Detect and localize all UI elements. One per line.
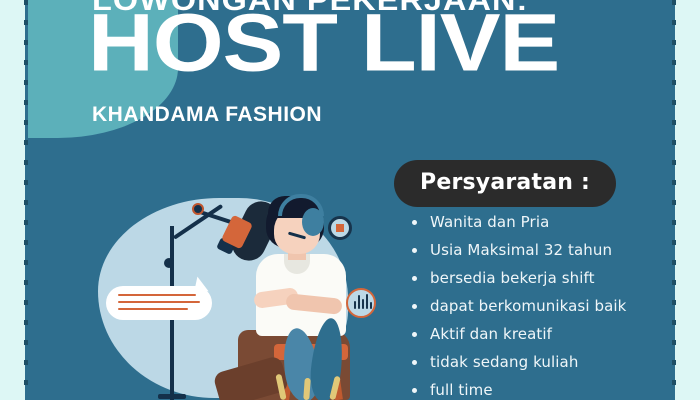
list-item: tidak sedang kuliah [408,353,626,371]
poster-subtitle: KHANDAMA FASHION [92,103,322,127]
mic-arm-joint-upper [192,203,204,215]
bubble-line [118,294,196,296]
waveform-bar [370,302,372,309]
poster-title: HOST LIVE [88,2,559,84]
headphone-earcup [302,208,324,236]
list-item: Wanita dan Pria [408,213,626,231]
mic-stand-foot [158,394,186,399]
job-vacancy-poster: LOWONGAN PEKERJAAN: HOST LIVE KHANDAMA F… [0,0,700,400]
audio-waveform-icon [346,288,376,318]
requirements-heading-label: Persyaratan : [420,170,590,195]
list-item: full time [408,381,626,399]
bubble-line [118,301,200,303]
right-dashed-rail [672,0,675,400]
requirements-heading-pill: Persyaratan : [394,160,616,207]
speech-bubble-icon [106,286,212,320]
list-item: bersedia bekerja shift [408,269,626,287]
requirements-list: Wanita dan Pria Usia Maksimal 32 tahun b… [408,213,626,400]
bubble-line [118,308,188,310]
host-live-illustration [88,178,408,400]
waveform-bar [362,299,364,309]
list-item: dapat berkomunikasi baik [408,297,626,315]
poster-card: LOWONGAN PEKERJAAN: HOST LIVE KHANDAMA F… [28,0,672,400]
list-item: Usia Maksimal 32 tahun [408,241,626,259]
mic-arm-joint-lower [164,258,174,268]
waveform-bar [366,294,368,309]
waveform-bar [354,301,356,309]
waveform-bar [358,295,360,309]
record-button-icon [328,216,352,240]
list-item: Aktif dan kreatif [408,325,626,343]
